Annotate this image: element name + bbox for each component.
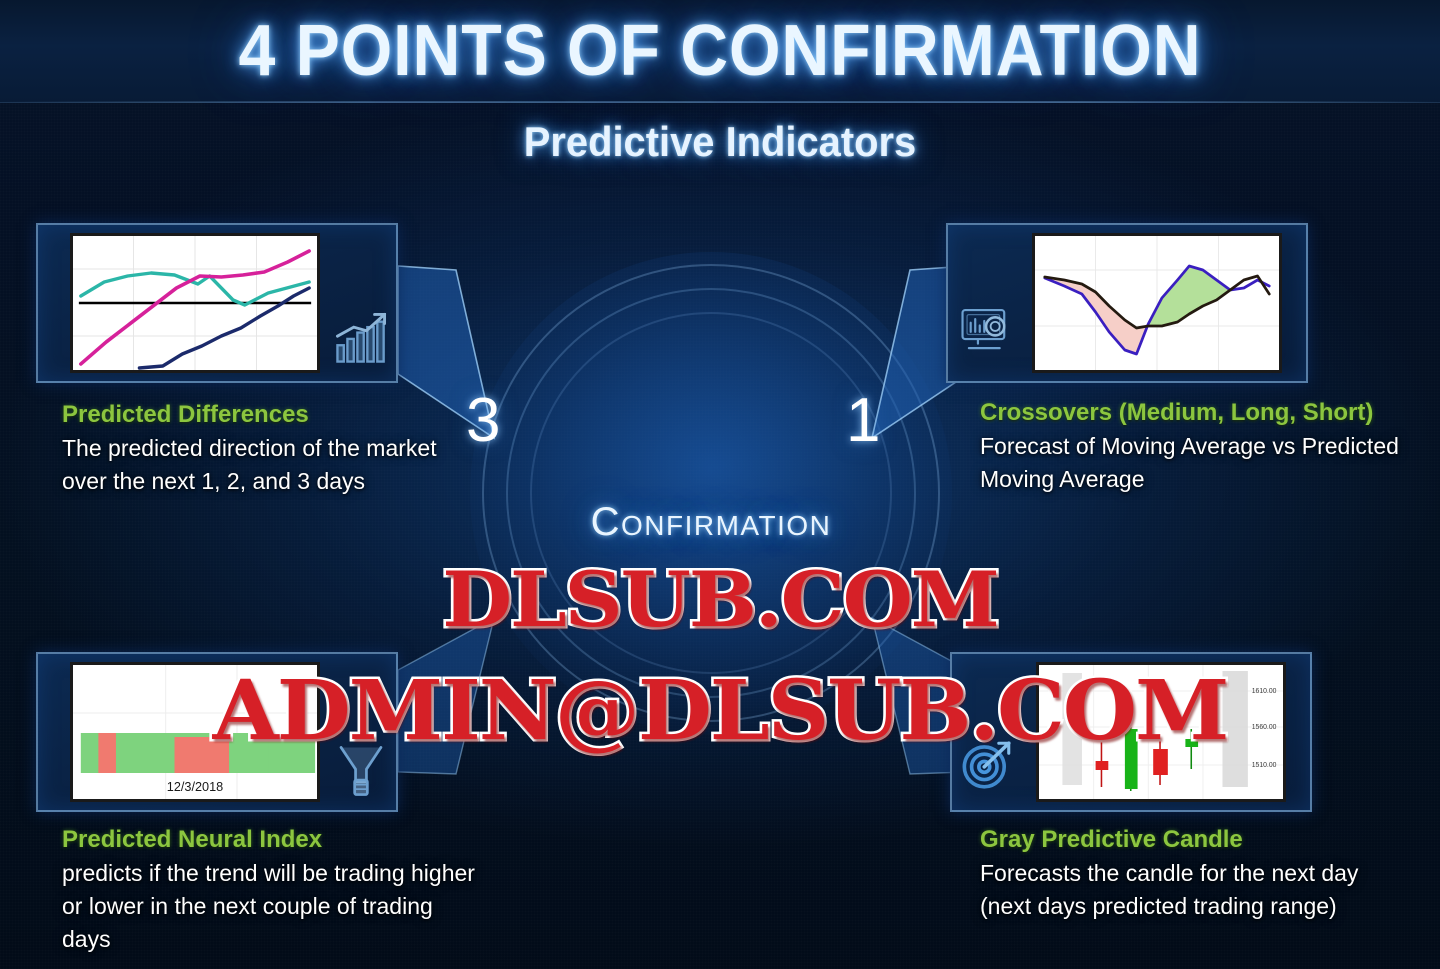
panel-predicted-differences[interactable] (36, 223, 398, 383)
candle-axis-label-low: 1510.00 (1252, 762, 1277, 769)
caption-title-crossovers: Crossovers (Medium, Long, Short) (980, 396, 1440, 430)
caption-title-neural-index: Predicted Neural Index (62, 823, 482, 857)
page-title: 4 POINTS OF CONFIRMATION (58, 6, 1383, 96)
center-label: Confirmation (470, 500, 952, 545)
step-number-3: 3 (466, 390, 500, 452)
caption-gray-predictive-candle: Gray Predictive Candle Forecasts the can… (980, 823, 1380, 923)
chart-crossovers (1032, 233, 1282, 373)
caption-body-gray-candle: Forecasts the candle for the next day (n… (980, 857, 1380, 923)
page-subtitle: Predictive Indicators (36, 116, 1404, 168)
caption-title-gray-candle: Gray Predictive Candle (980, 823, 1380, 857)
center-glow (470, 252, 952, 734)
caption-body-predicted-differences: The predicted direction of the market ov… (62, 432, 462, 498)
caption-body-neural-index: predicts if the trend will be trading hi… (62, 857, 482, 956)
caption-body-crossovers: Forecast of Moving Average vs Predicted … (980, 430, 1440, 496)
caption-crossovers: Crossovers (Medium, Long, Short) Forecas… (980, 396, 1440, 496)
chart-date-label-neural-index: 12/3/2018 (167, 779, 223, 794)
chart-predicted-differences (70, 233, 320, 373)
center-ring-outer (482, 264, 940, 722)
panel-crossovers[interactable] (946, 223, 1308, 383)
watermark-email: ADMIN@DLSUB.COM (0, 663, 1440, 759)
watermark-site: DLSUB.COM (0, 555, 1440, 644)
bar-chart-growth-icon (332, 309, 390, 367)
caption-title-predicted-differences: Predicted Differences (62, 398, 462, 432)
slide-canvas: 4 POINTS OF CONFIRMATION Predictive Indi… (0, 0, 1440, 969)
monitor-analytics-icon (958, 301, 1016, 359)
step-number-1: 1 (846, 390, 880, 452)
caption-predicted-neural-index: Predicted Neural Index predicts if the t… (62, 823, 482, 956)
caption-predicted-differences: Predicted Differences The predicted dire… (62, 398, 462, 498)
